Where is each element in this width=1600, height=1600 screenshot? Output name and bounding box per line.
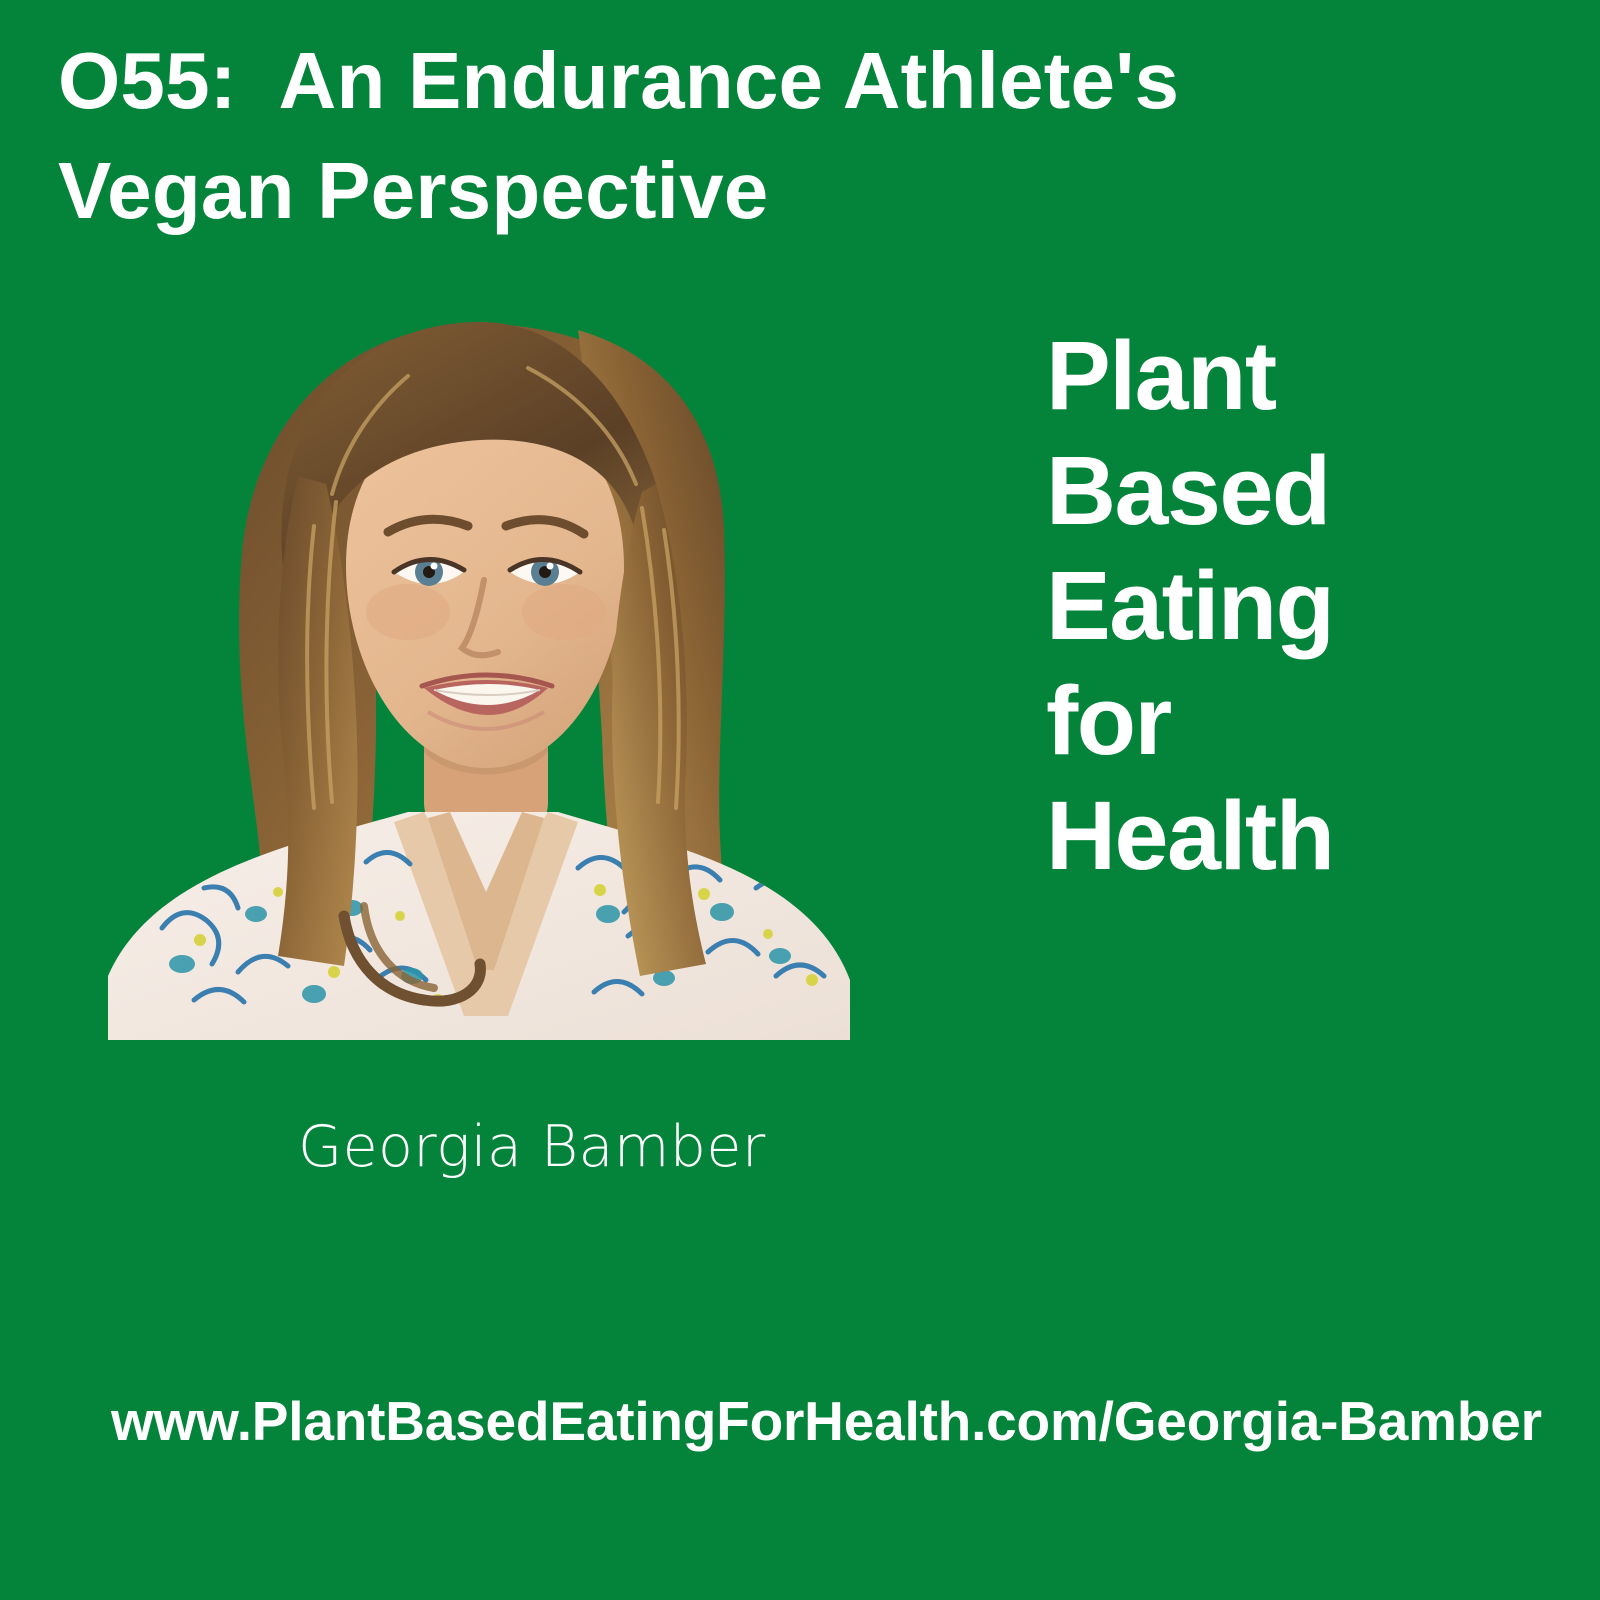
- website-url[interactable]: www.PlantBasedEatingForHealth.com/Georgi…: [111, 1388, 1542, 1454]
- brand-line-1: Plant: [1046, 318, 1516, 433]
- podcast-episode-poster: O55: An Endurance Athlete's Vegan Perspe…: [0, 0, 1600, 1600]
- speaker-photo: [108, 316, 858, 1040]
- brand-line-4: for: [1046, 663, 1516, 778]
- brand-line-3: Eating: [1046, 548, 1516, 663]
- brand-title: Plant Based Eating for Health: [1046, 318, 1516, 893]
- speaker-name: Georgia Bamber: [298, 1112, 766, 1182]
- brand-line-2: Based: [1046, 433, 1516, 548]
- page-title: O55: An Endurance Athlete's Vegan Perspe…: [58, 26, 1358, 246]
- brand-line-5: Health: [1046, 778, 1516, 893]
